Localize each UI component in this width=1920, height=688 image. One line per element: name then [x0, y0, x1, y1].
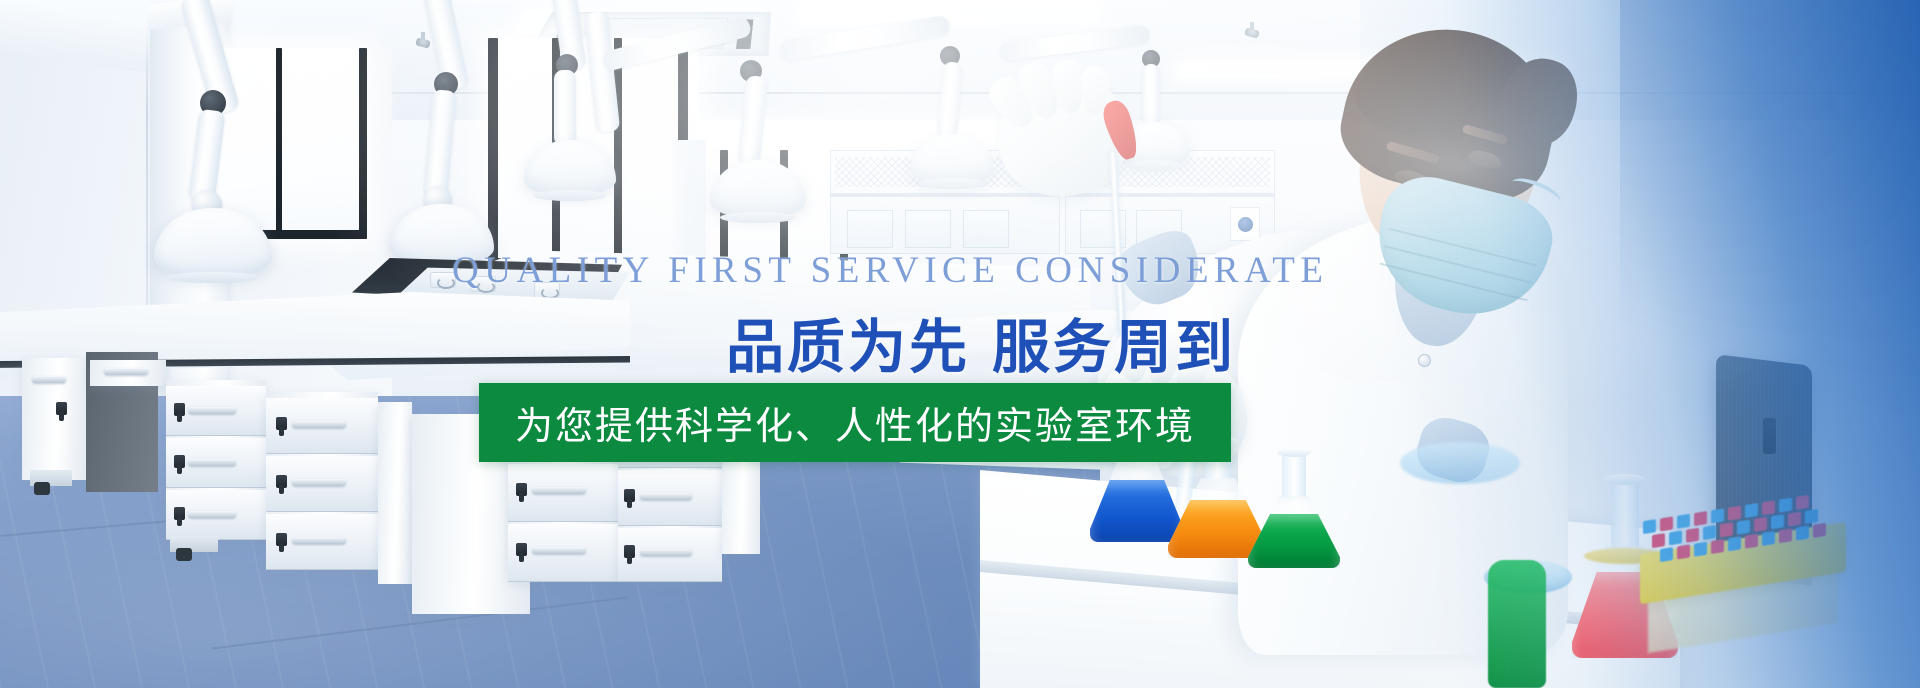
headline-part-2: 服务周到	[992, 315, 1236, 380]
banner-copy: QUALITY FIRST SERVICE CONSIDERATE 品质为先服务…	[0, 0, 1920, 688]
english-tagline: QUALITY FIRST SERVICE CONSIDERATE	[452, 249, 1328, 292]
subtitle-green-bar: 为您提供科学化、人性化的实验室环境	[479, 383, 1231, 462]
subtitle-text: 为您提供科学化、人性化的实验室环境	[515, 395, 1195, 450]
lab-hero-banner: QUALITY FIRST SERVICE CONSIDERATE 品质为先服务…	[0, 0, 1920, 688]
headline: 品质为先服务周到	[726, 300, 1236, 384]
headline-part-1: 品质为先	[726, 315, 970, 380]
